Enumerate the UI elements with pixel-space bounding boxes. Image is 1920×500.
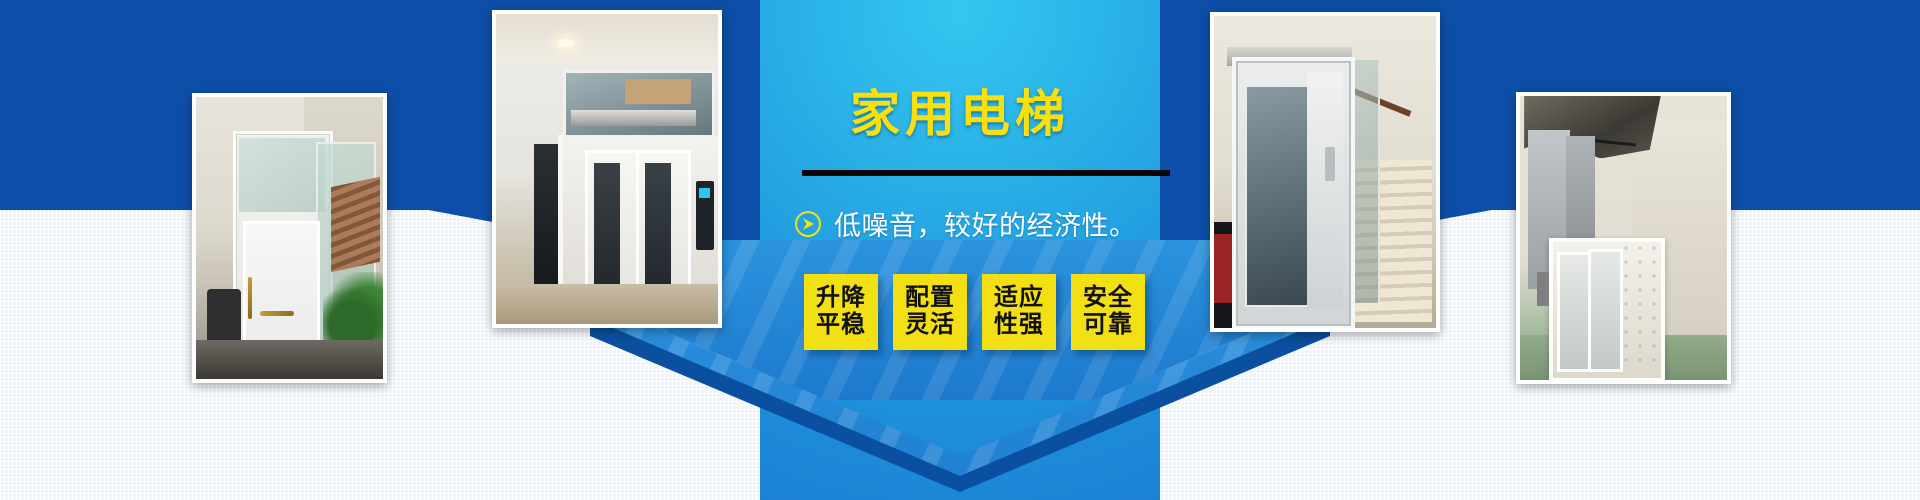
subtitle-row: 低噪音，较好的经济性。 [794, 204, 1174, 243]
badge-line-2: 平稳 [816, 312, 866, 339]
feature-badge[interactable]: 安全 可靠 [1071, 274, 1145, 350]
banner-title: 家用电梯 [760, 74, 1160, 146]
badge-line-1: 升降 [816, 285, 866, 312]
feature-badge[interactable]: 升降 平稳 [804, 274, 878, 350]
circled-arrow-icon [794, 210, 822, 238]
badge-line-1: 安全 [1083, 285, 1133, 312]
photo-frame-4 [1516, 92, 1731, 384]
home-elevator-banner: 家用电梯 低噪音，较好的经济性。 升降 平稳 配置 灵活 适应 性强 [0, 0, 1920, 500]
photo-frame-2 [492, 10, 722, 328]
badge-line-1: 配置 [905, 285, 955, 312]
banner-subtitle: 低噪音，较好的经济性。 [834, 204, 1137, 243]
badge-line-1: 适应 [994, 285, 1044, 312]
feature-badge[interactable]: 适应 性强 [982, 274, 1056, 350]
badge-line-2: 可靠 [1083, 312, 1133, 339]
photo-2-image [496, 14, 718, 324]
photo-1-image [196, 97, 383, 379]
feature-badge[interactable]: 配置 灵活 [893, 274, 967, 350]
badge-line-2: 灵活 [905, 312, 955, 339]
banner-content: 家用电梯 低噪音，较好的经济性。 升降 平稳 配置 灵活 适应 性强 [760, 0, 1160, 500]
photo-frame-1 [192, 93, 387, 383]
photo-3-image [1214, 16, 1436, 328]
title-divider [802, 170, 1170, 176]
feature-badge-list: 升降 平稳 配置 灵活 适应 性强 安全 可靠 [804, 274, 1145, 350]
photo-frame-3 [1210, 12, 1440, 332]
badge-line-2: 性强 [994, 312, 1044, 339]
photo-4-image [1520, 96, 1727, 380]
